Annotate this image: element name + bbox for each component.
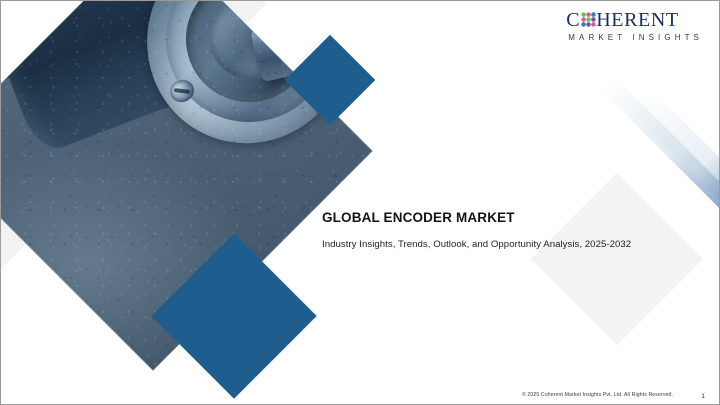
presentation-slide: CHERENT MARKET INSIGHTS GLOBAL ENCODER M… (0, 0, 720, 405)
pixel-grid-icon (581, 12, 596, 27)
encoder-cable-gland (0, 5, 44, 99)
encoder-flange-inner-ring (168, 0, 331, 120)
coherent-market-insights-logo[interactable]: CHERENT MARKET INSIGHTS (566, 10, 703, 42)
page-title: GLOBAL ENCODER MARKET (322, 210, 652, 226)
title-block: GLOBAL ENCODER MARKET Industry Insights,… (322, 210, 652, 253)
encoder-body (0, 0, 261, 156)
logo-wordmark: CHERENT (566, 10, 703, 30)
encoder-gland-ring (9, 8, 72, 97)
encoder-body-highlight (13, 0, 204, 8)
encoder-flange (119, 0, 372, 173)
page-subtitle: Industry Insights, Trends, Outlook, and … (322, 238, 652, 253)
hero-image-diamond (0, 0, 372, 370)
copyright-notice: © 2025 Coherent Market Insights Pvt. Ltd… (522, 392, 673, 398)
encoder-hub (199, 0, 300, 89)
logo-tagline: MARKET INSIGHTS (568, 33, 703, 42)
encoder-shaft (250, 0, 372, 82)
logo-letters-herent: HERENT (596, 9, 678, 31)
logo-letter-c: C (566, 9, 580, 31)
decorative-grey-diamond (531, 173, 704, 346)
page-number: 1 (701, 393, 705, 400)
slide-footer: © 2025 Coherent Market Insights Pvt. Ltd… (1, 386, 719, 398)
encoder-screw (167, 76, 197, 105)
encoder-flange-ring (142, 0, 356, 146)
rotary-encoder-photo (0, 0, 372, 370)
